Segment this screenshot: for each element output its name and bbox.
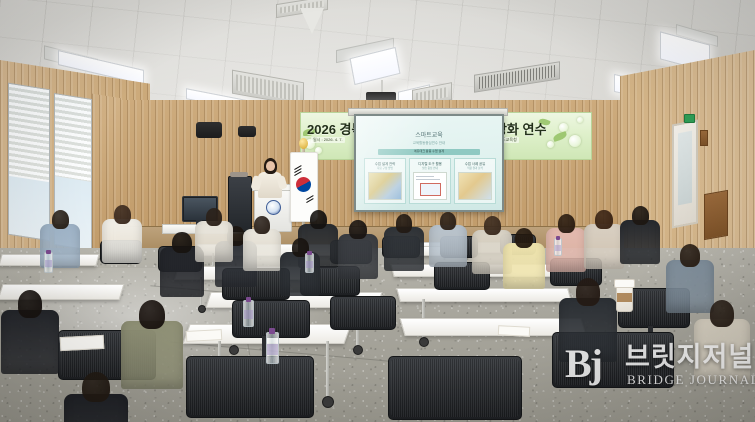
- av-rack-top-item: [230, 172, 248, 177]
- audience-member-head: [484, 216, 501, 235]
- audience-member-head: [52, 210, 69, 229]
- slide-column-sub: 자료 구성 방법: [365, 166, 405, 170]
- audience-member-head: [206, 208, 222, 226]
- audience-member-body: [620, 220, 660, 264]
- water-bottle: [554, 238, 562, 256]
- audience-member-head: [349, 220, 366, 239]
- audience-member-head: [576, 278, 601, 306]
- podium-emblem: [266, 200, 281, 215]
- wall-speaker: [196, 122, 222, 138]
- wall-fixture: [700, 130, 708, 146]
- chair: [186, 356, 314, 418]
- chair: [388, 356, 522, 420]
- coffee-cup-lid: [614, 279, 635, 288]
- water-bottle: [266, 332, 279, 364]
- window-blind: [9, 84, 49, 182]
- speaker-head: [266, 161, 275, 171]
- slide-subtitle: 교육활동중심연수 안내: [356, 140, 502, 145]
- audience-member-head: [440, 212, 456, 230]
- banner-subtitle-left: 일시 : 2026. 4. 7.: [311, 137, 345, 143]
- audience-member-body: [1, 310, 59, 374]
- audience-member-head: [515, 228, 533, 248]
- slide-column-heading: 디지털 도구 활용: [410, 161, 450, 166]
- slide-column: 수업 사례 공유 적용 결과 분석: [454, 158, 496, 204]
- window-blind: [55, 94, 91, 182]
- audience-member-body: [195, 221, 233, 262]
- slide-column: 디지털 도구 활용 실습 중심 안내: [409, 158, 451, 204]
- audience-member-head: [172, 232, 191, 253]
- seminar-room-photo: 2026 경북 일시 : 2026. 4. 7. 량강화 연수 경상북도교육청 …: [0, 0, 755, 422]
- watermark: Bj 브릿지저널 BRIDGE JOURNAL: [565, 338, 750, 400]
- slide-title: 스마트교육: [356, 130, 502, 139]
- slide-band: 에듀테크 활용 수업 설계: [378, 149, 480, 155]
- watermark-english: BRIDGE JOURNAL: [627, 372, 755, 388]
- ceiling-diffuser-cone: [300, 8, 324, 34]
- water-bottle: [44, 252, 53, 273]
- wall-cabinet: [704, 190, 728, 240]
- slide-thumbnail: [413, 172, 447, 200]
- audience-member-head: [139, 300, 165, 329]
- slide-column-sub: 실습 중심 안내: [410, 166, 450, 170]
- exit-sign-icon: [684, 114, 695, 123]
- audience-member-body: [338, 234, 379, 279]
- audience-member-head: [310, 210, 327, 229]
- slide-column: 수업 설계 전략 자료 구성 방법: [364, 158, 406, 204]
- audience-member-body: [280, 252, 320, 296]
- handout-paper: [60, 335, 105, 351]
- watermark-korean: 브릿지저널: [625, 342, 754, 372]
- water-bottle: [243, 300, 254, 327]
- watermark-logo: Bj: [565, 342, 623, 390]
- slide-column-heading: 수업 사례 공유: [455, 161, 495, 166]
- audience-member-body: [429, 225, 467, 267]
- chair: [330, 296, 396, 330]
- audience-member-head: [114, 205, 131, 224]
- coffee-cup: [616, 284, 633, 312]
- audience-member-body: [546, 228, 586, 272]
- audience-member-body: [243, 229, 281, 271]
- audience-member-body: [666, 260, 714, 313]
- water-bottle: [305, 253, 314, 273]
- audience-member-head: [595, 210, 612, 229]
- slide-column-heading: 수업 설계 전략: [365, 161, 405, 166]
- slide-thumbnail: [458, 172, 492, 200]
- left-window: [8, 83, 50, 242]
- audience-member-head: [680, 244, 700, 267]
- slide-band-label: 에듀테크 활용 수업 설계: [378, 149, 480, 155]
- handout-paper: [498, 325, 530, 337]
- handout-paper: [186, 329, 223, 342]
- projection-screen: 스마트교육 교육활동중심연수 안내 에듀테크 활용 수업 설계 수업 설계 전략…: [354, 114, 504, 212]
- audience-member-head: [82, 372, 109, 402]
- taeguk-icon: [293, 174, 313, 194]
- audience-member-body: [584, 224, 625, 269]
- slide-column-sub: 적용 결과 분석: [455, 166, 495, 170]
- audience-member-body: [384, 227, 423, 270]
- audience-member-head: [396, 214, 413, 233]
- right-door[interactable]: [672, 119, 698, 228]
- audience-member-body: [121, 321, 183, 389]
- audience-member-body: [102, 219, 142, 263]
- flag-finial-icon: [299, 138, 308, 149]
- audience-member-head: [558, 214, 575, 233]
- audience-member-head: [710, 300, 734, 327]
- audience-member-head: [18, 290, 43, 318]
- slide-thumbnail: [368, 172, 402, 200]
- audience-member-body: [503, 243, 545, 290]
- wall-speaker: [238, 126, 256, 137]
- audience-member-head: [632, 206, 649, 225]
- audience-member-head: [254, 216, 270, 234]
